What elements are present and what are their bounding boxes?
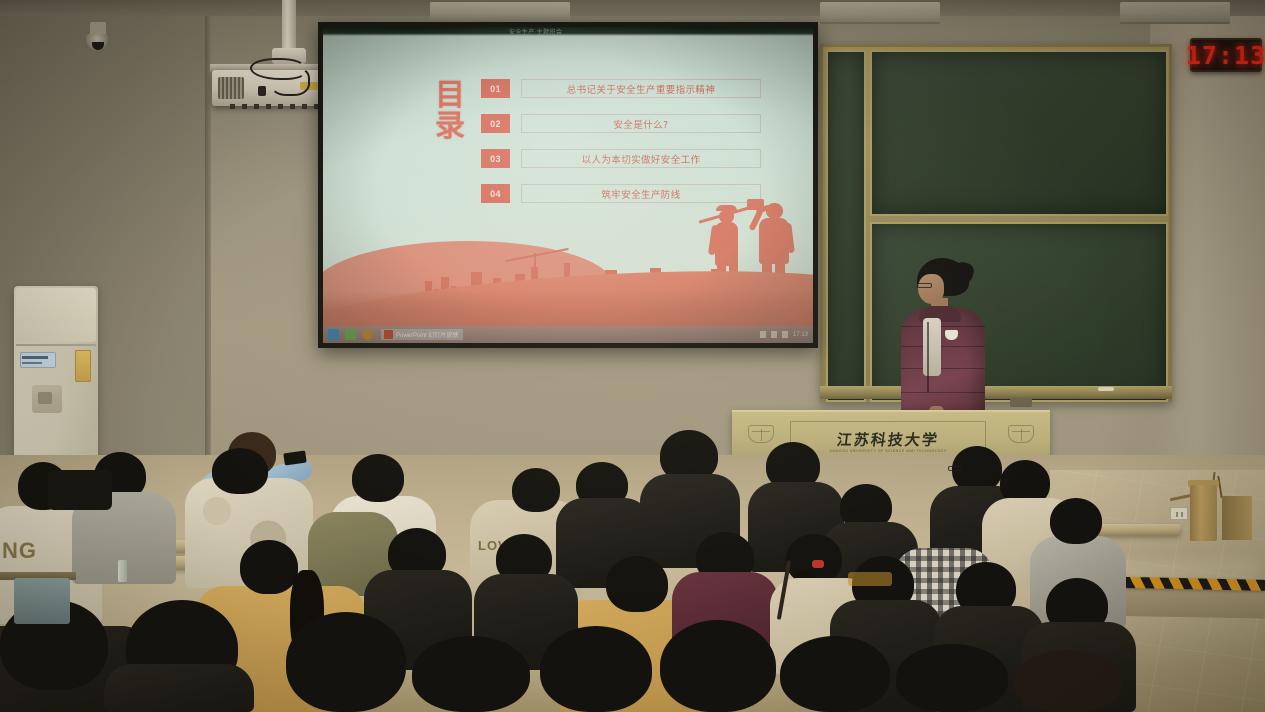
glasses-icon [948,466,962,471]
slide-top-bar-text: 安全生产 主题班会 [509,27,562,36]
audience-head [606,556,668,612]
tray-icon[interactable] [760,331,766,338]
windows-start-icon[interactable] [328,329,339,340]
windows-taskbar[interactable]: PowerPoint 幻灯片放映 17:13 [323,326,813,343]
toc-row: 03 以人为本切实做好安全工作 [481,149,761,168]
ac-energy-label [75,350,91,382]
slide-title: 目录 [433,81,467,142]
waste-bin [1190,485,1217,541]
audience-head [540,626,652,712]
green-chalkboard [820,44,1172,402]
jacket-text: NG [2,538,37,564]
toc-text: 筑牢安全生产防线 [601,187,680,201]
toc-number: 02 [481,114,510,133]
classroom-photo: 17:13 安全生产 主题班会 [0,0,1265,712]
chalkboard-panel-left [826,50,866,402]
ceiling-light-panel [820,2,940,24]
projector-vent [218,77,244,99]
lectern-motif-icon [1008,425,1034,443]
lectern-plaque: 江苏科技大学 JIANGSU UNIVERSITY OF SCIENCE AND… [790,421,986,457]
taskbar-task-label: PowerPoint 幻灯片放映 [396,330,458,339]
taskbar-system-tray[interactable]: 17:13 [760,331,808,338]
browser-icon[interactable] [362,329,373,340]
clock-time: 17:13 [1186,41,1265,70]
university-subtitle: JIANGSU UNIVERSITY OF SCIENCE AND TECHNO… [791,449,985,453]
projector-vents-row [230,104,322,109]
jacket-zipper [927,322,929,392]
ceiling [0,0,1265,16]
lectern-motif-icon [748,425,774,443]
presenter-jacket [901,308,985,420]
toc-row: 04 筑牢安全生产防线 [481,184,761,203]
ac-top-panel [16,288,96,342]
powerpoint-icon [384,330,393,339]
tray-icon[interactable] [782,331,788,338]
slide-top-bar [323,27,813,36]
audience-head [1014,650,1122,712]
projection-screen-frame: 安全生产 主题班会 [318,22,818,348]
backpack [48,470,112,510]
audience-head [212,448,268,494]
audience-head [780,636,890,712]
audience-head [412,636,530,712]
toc-bar: 总书记关于安全生产重要指示精神 [521,79,761,98]
audience-member-body [104,664,254,712]
chalkboard-panel-top-right [870,50,1168,216]
presenter-shirt [923,318,941,376]
audience-head [512,468,560,512]
projected-slide: 安全生产 主题班会 [323,27,813,343]
toc-text: 以人为本切实做好安全工作 [582,152,701,166]
toc-number: 04 [481,184,510,203]
chair-back [14,578,70,624]
audience-head [240,540,298,594]
toc-row: 02 安全是什么? [481,114,761,133]
ac-label [20,352,56,368]
toc-bar: 安全是什么? [521,114,761,133]
jacket-print [848,572,892,586]
student-presenter [893,258,989,420]
projector-cable [270,66,310,96]
university-logo-text: 江苏科技大学 [790,429,987,450]
audience-head [660,620,776,712]
slide-toc: 01 总书记关于安全生产重要指示精神 02 安全是什么? 03 以人为本切实做好… [481,79,761,219]
ceiling-light-panel [430,2,570,24]
toc-text: 安全是什么? [614,117,669,131]
projector-connector [258,86,266,96]
water-bottle [118,560,127,582]
wall-digital-clock: 17:13 [1190,38,1262,72]
audience-head [286,612,406,712]
audience-head [1050,498,1102,544]
blackboard-eraser [1010,398,1032,407]
cardboard-box [1222,496,1252,540]
taskbar-clock[interactable]: 17:13 [793,332,808,338]
projector-pole [282,0,296,55]
ceiling-light-panel [1120,2,1230,24]
chalk-stick [1098,387,1114,391]
taskbar-powerpoint-task[interactable]: PowerPoint 幻灯片放映 [381,329,463,340]
toc-number: 01 [481,79,510,98]
file-explorer-icon[interactable] [345,329,356,340]
hair-clip [812,560,824,568]
glasses-icon [917,283,932,288]
toc-bar: 筑牢安全生产防线 [521,184,761,203]
toc-text: 总书记关于安全生产重要指示精神 [567,82,716,96]
audience-head [352,454,404,502]
toc-bar: 以人为本切实做好安全工作 [521,149,761,168]
tray-icon[interactable] [771,331,777,338]
wall-outlet[interactable] [1170,507,1188,520]
toc-number: 03 [481,149,510,168]
slide-crane-jib [505,248,568,262]
chalk-tray [820,386,1172,399]
audience-head [896,644,1008,712]
toc-row: 01 总书记关于安全生产重要指示精神 [481,79,761,98]
